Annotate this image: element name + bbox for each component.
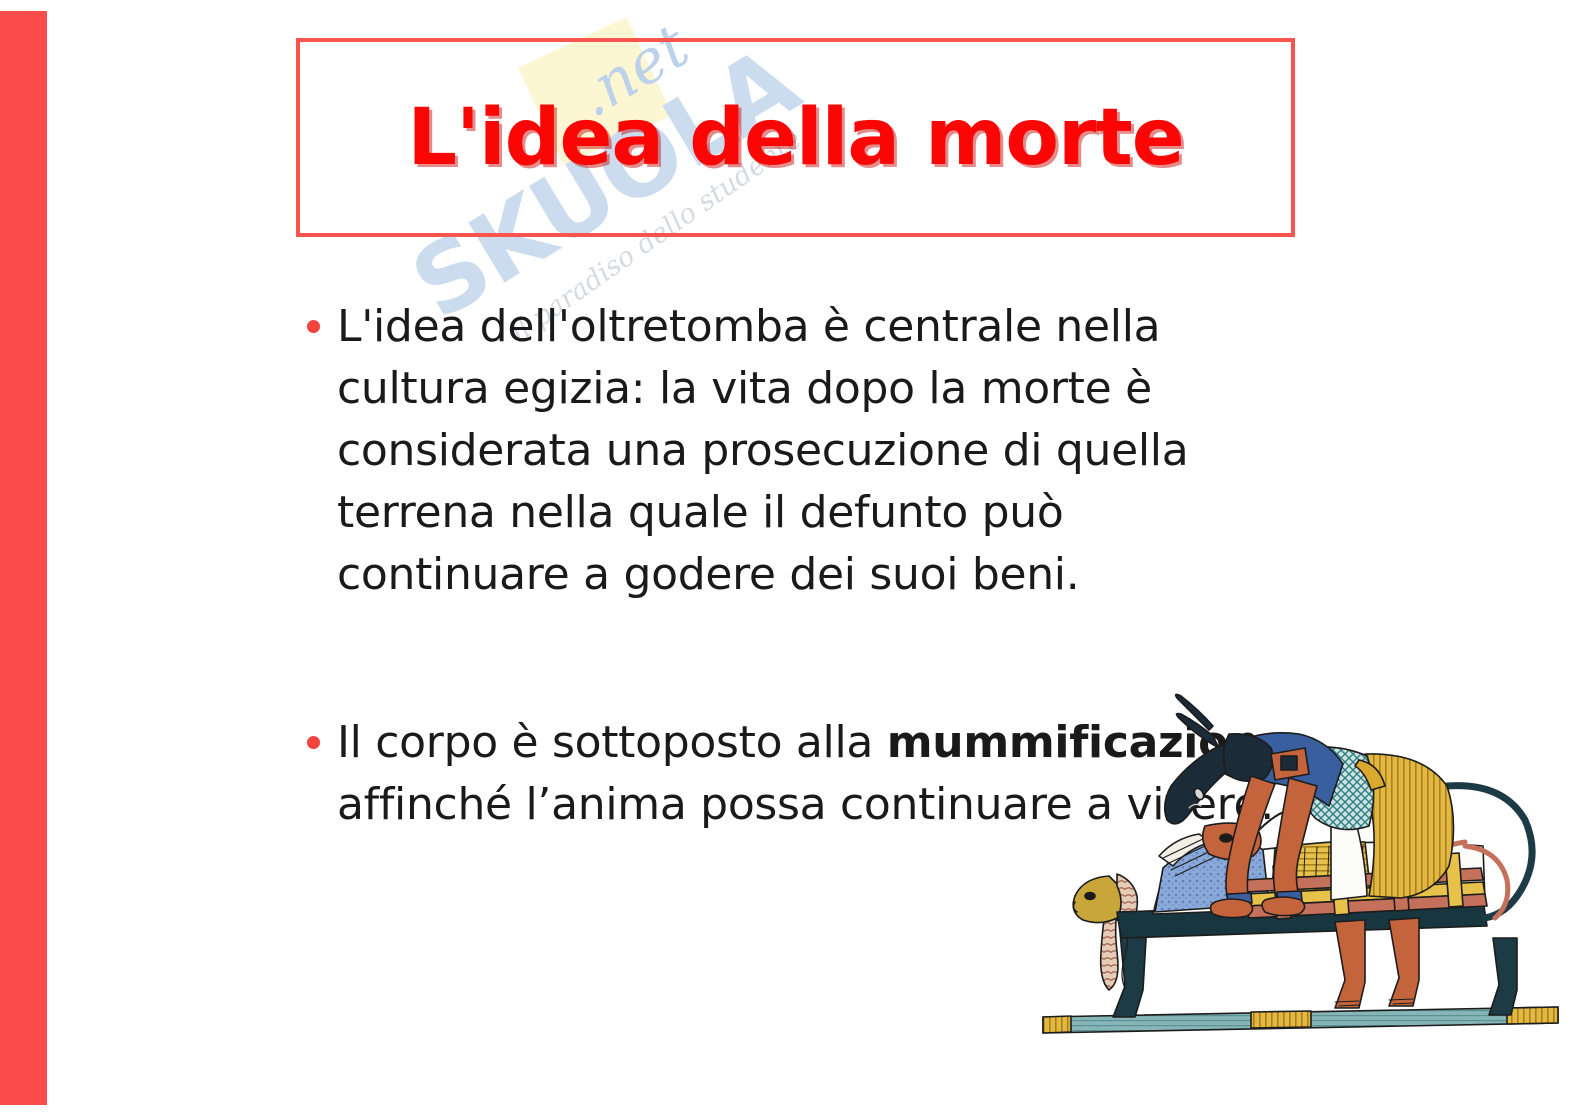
list-item: L'idea dell'oltretomba è centrale nella … <box>305 296 1295 606</box>
slide-canvas: SKUOLA .net il paradiso dello studente L… <box>0 0 1579 1116</box>
bullet-dot-icon <box>307 320 320 333</box>
left-accent-bar <box>0 11 47 1105</box>
bullet-text-1: L'idea dell'oltretomba è centrale nella … <box>337 296 1295 606</box>
bullet-dot-icon <box>307 736 320 749</box>
title-box: L'idea della morte <box>296 38 1295 237</box>
page-title: L'idea della morte <box>300 42 1291 233</box>
anubis-mummy-illustration <box>1013 690 1573 1040</box>
bed-leg-rear-right <box>1489 938 1517 1015</box>
